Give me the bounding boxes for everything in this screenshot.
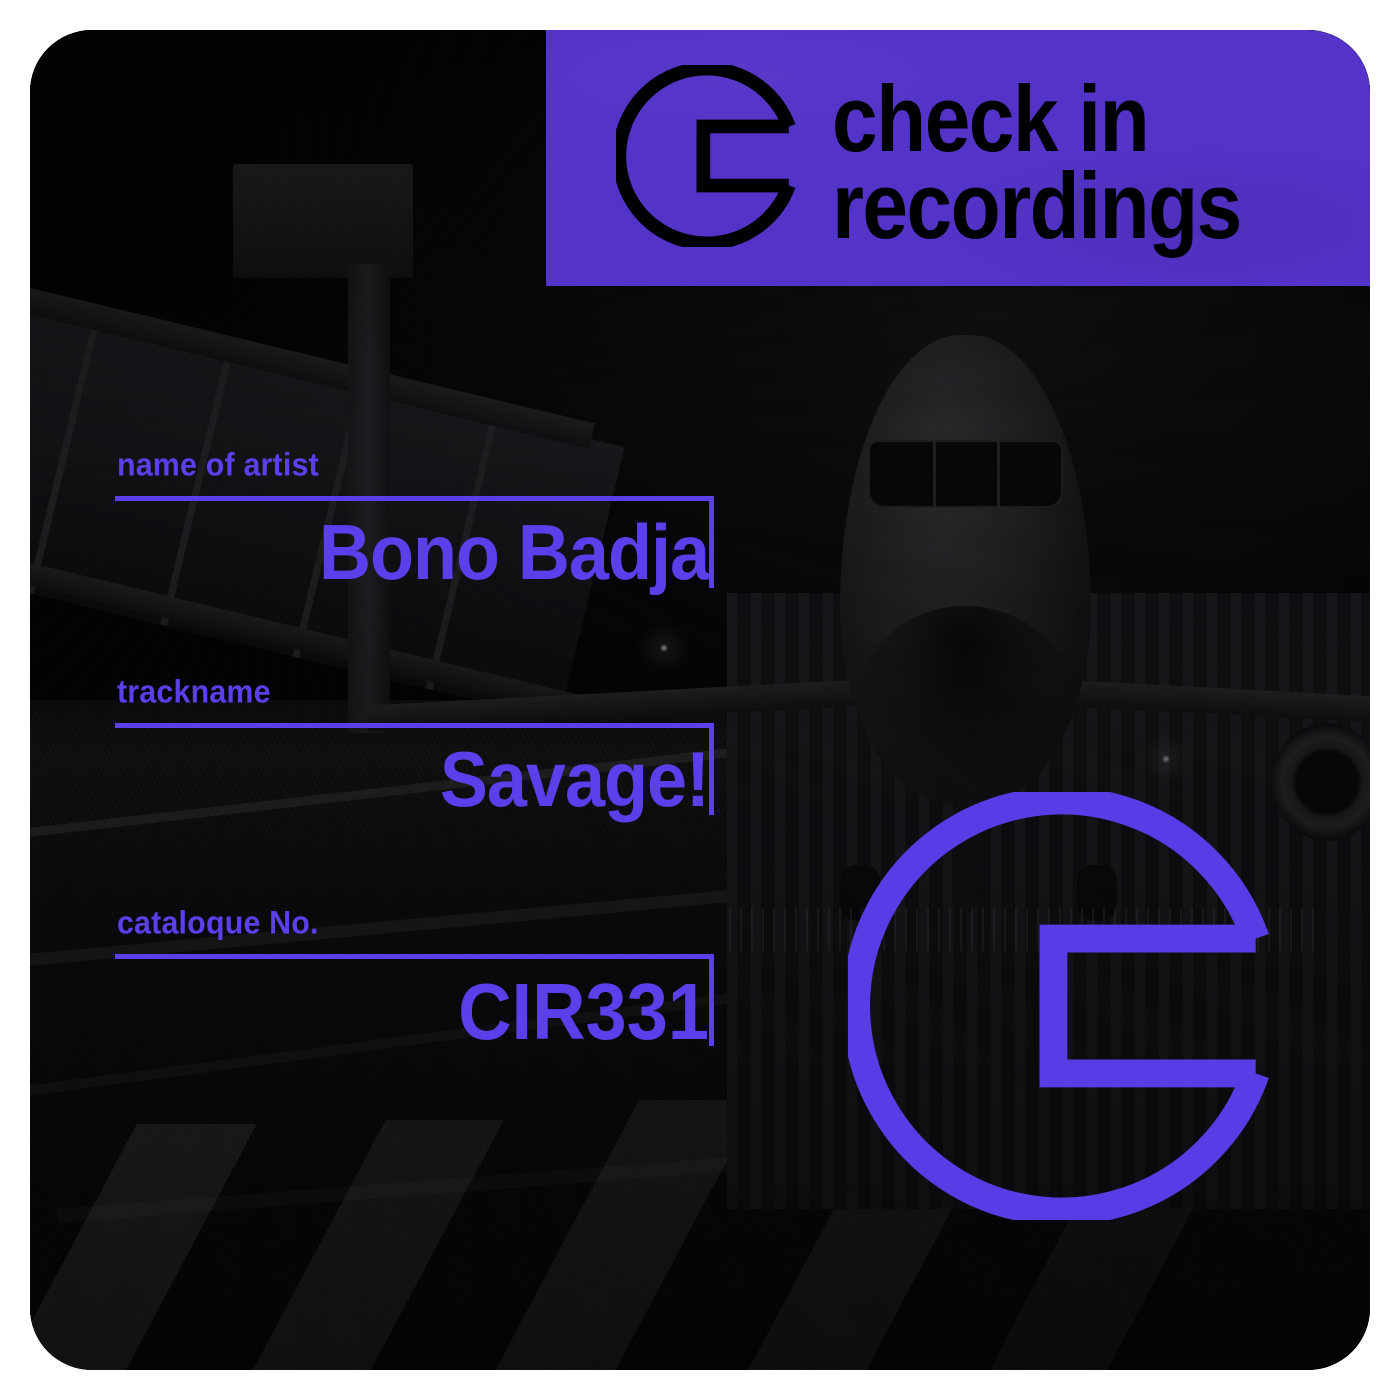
field-trackname-rule: Savage! [115,723,775,815]
label-banner: check in recordings [546,30,1370,286]
album-artwork-canvas: name of artist Bono Badja trackname Sava… [0,0,1400,1400]
wordmark-line-2: recordings [832,164,1241,250]
rule-horizontal [115,723,714,728]
rule-vertical [709,954,714,1046]
wordmark-line-1: check in [832,77,1241,163]
field-catalogue-label: cataloque No. [115,904,762,942]
field-catalogue: cataloque No. CIR331 [115,906,775,1046]
field-artist: name of artist Bono Badja [115,448,775,588]
field-artist-value: Bono Badja [319,514,709,592]
rule-horizontal [115,954,714,959]
field-catalogue-value: CIR331 [458,972,709,1052]
album-cover: name of artist Bono Badja trackname Sava… [30,30,1370,1370]
check-in-circle-logo-icon [616,65,798,252]
rule-vertical [709,723,714,815]
field-trackname: trackname Savage! [115,675,775,815]
field-trackname-label: trackname [115,673,762,711]
field-artist-rule: Bono Badja [115,496,775,588]
rule-horizontal [115,496,714,501]
label-wordmark: check in recordings [832,77,1241,240]
rule-vertical [709,496,714,588]
field-trackname-value: Savage! [440,741,709,819]
field-catalogue-rule: CIR331 [115,954,775,1046]
field-artist-label: name of artist [115,446,762,484]
